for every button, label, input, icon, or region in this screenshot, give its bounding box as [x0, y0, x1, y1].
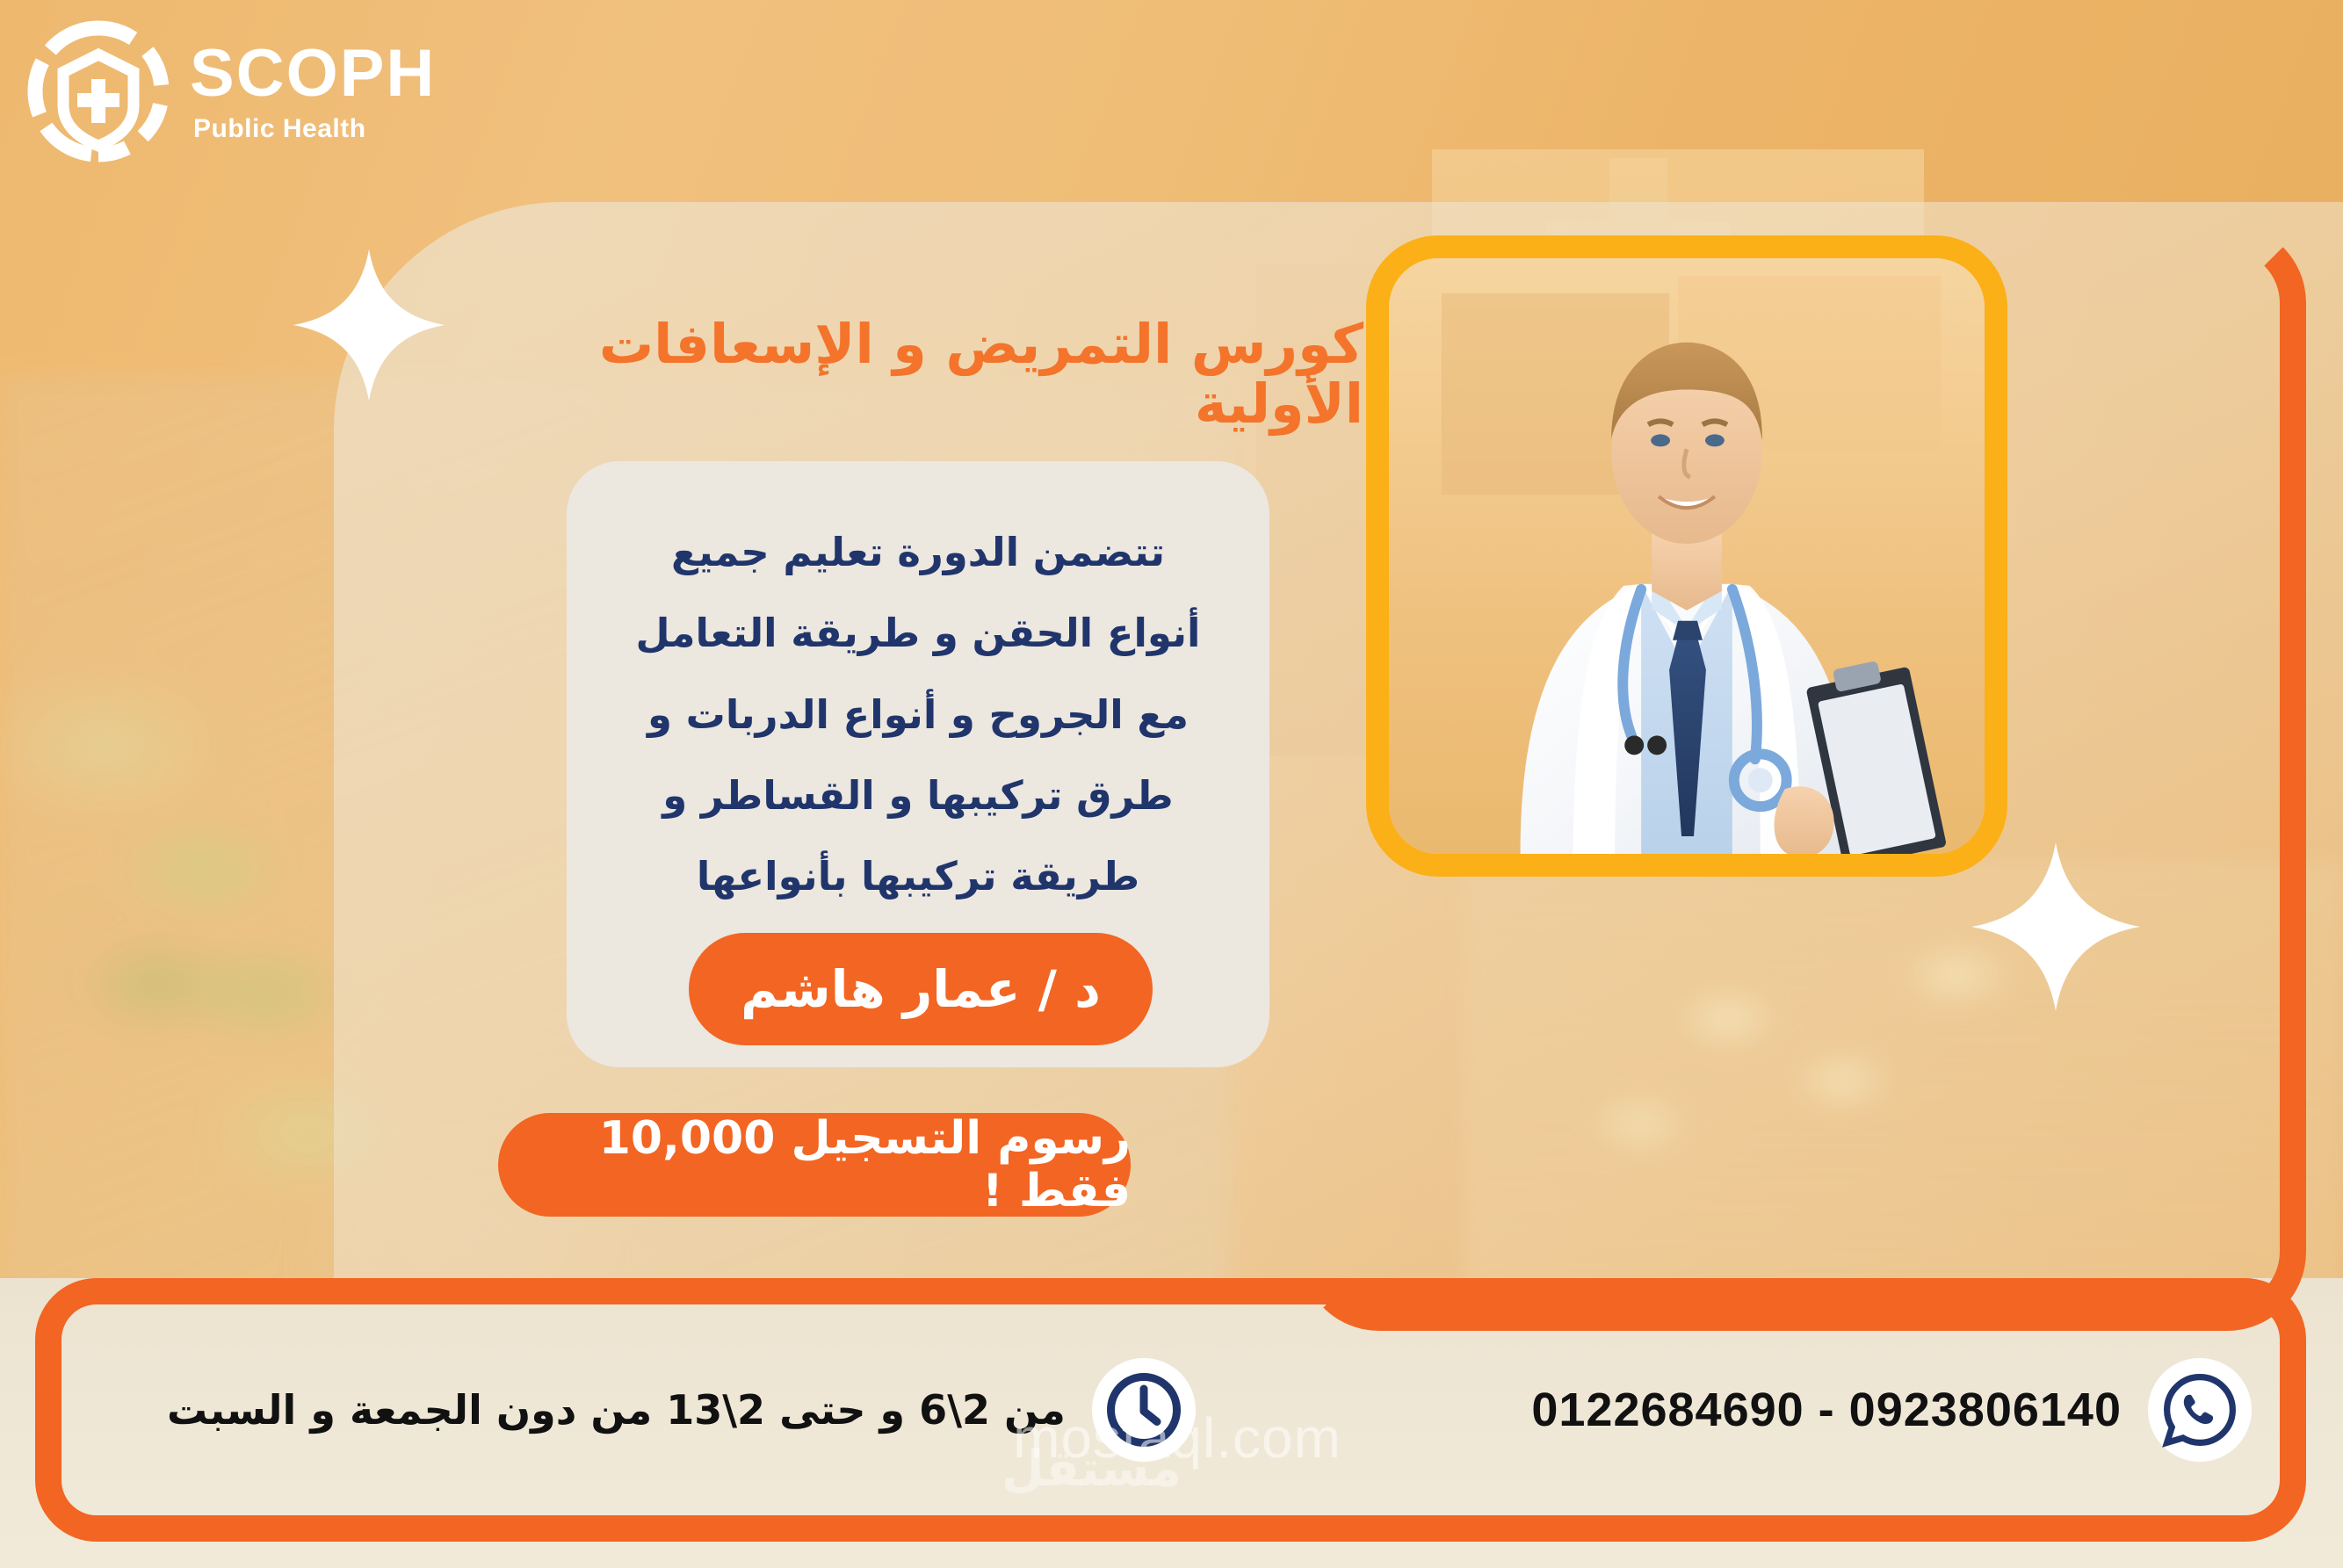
phone-numbers: 0122684690 - 0923806140: [1531, 1383, 2122, 1437]
phone-contact-group: 0122684690 - 0923806140: [1531, 1358, 2252, 1462]
schedule-text: من 2\6 و حتى 2\13 من دون الجمعة و السبت: [167, 1386, 1066, 1434]
sparkle-decoration-icon: [290, 246, 448, 404]
doctor-photo-frame: [1366, 235, 2007, 877]
schedule-group: من 2\6 و حتى 2\13 من دون الجمعة و السبت: [61, 1358, 1196, 1462]
description-line: طريقة تركيبها بأنواعها: [614, 836, 1222, 917]
doctor-photo: [1389, 258, 1985, 854]
footer-contact-bar: 0122684690 - 0923806140 من 2\6 و حتى 2\1…: [61, 1304, 2280, 1515]
brand-logo: SCOPH Public Health: [25, 18, 640, 184]
shield-cross-circle-icon: [25, 18, 172, 165]
page-title: كورس التمريض و الإسعافات الأولية: [485, 314, 1363, 434]
sparkle-decoration-icon: [1968, 839, 2144, 1015]
fee-badge: رسوم التسجيل 10,000 فقط !: [498, 1113, 1131, 1217]
brand-name: SCOPH: [190, 40, 436, 107]
description-line: تتضمن الدورة تعليم جميع: [614, 512, 1222, 593]
description-line: طرق تركيبها و القساطر و: [614, 755, 1222, 836]
description-line: أنواع الحقن و طريقة التعامل: [614, 593, 1222, 674]
whatsapp-icon[interactable]: [2148, 1358, 2252, 1462]
brand-tagline: Public Health: [193, 114, 366, 144]
poster-canvas: SCOPH Public Health: [0, 0, 2343, 1568]
instructor-badge: د / عمار هاشم: [689, 933, 1153, 1045]
description-line: مع الجروح و أنواع الدربات و: [614, 675, 1222, 755]
clock-icon: [1092, 1358, 1196, 1462]
